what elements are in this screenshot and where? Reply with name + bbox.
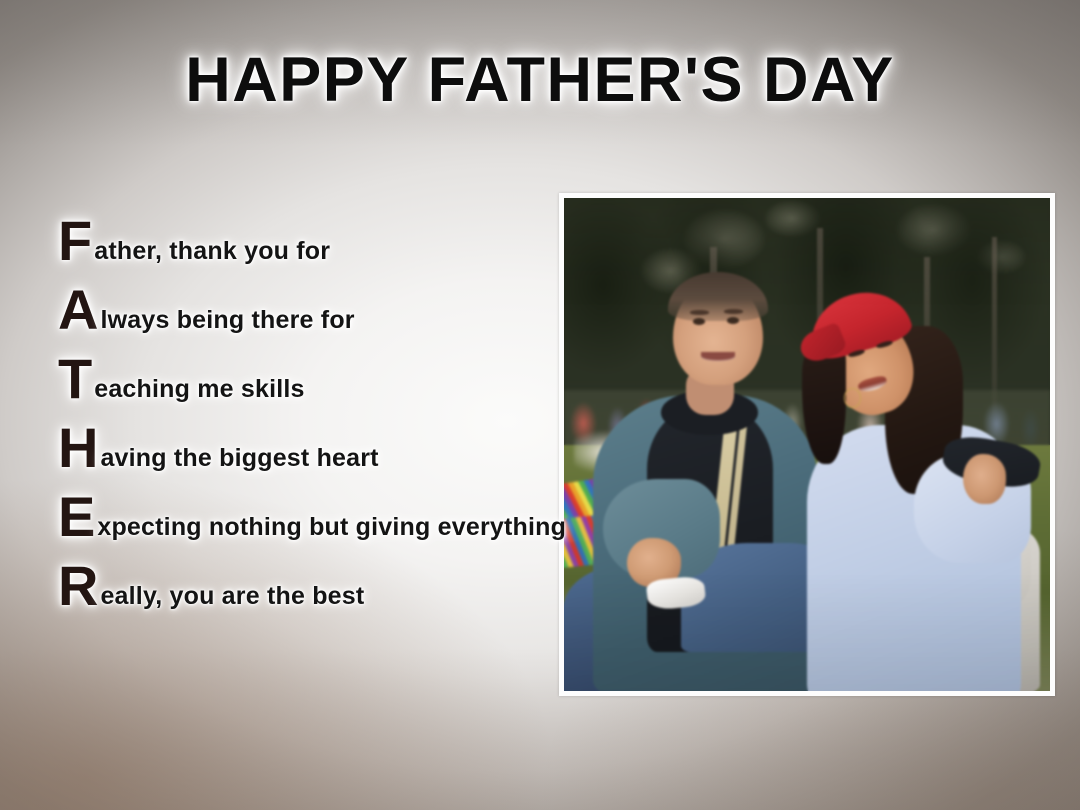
photo-striped-blanket	[564, 507, 673, 569]
photo-father-eye	[693, 318, 706, 325]
poem-dropcap-t: T	[58, 351, 92, 407]
photo-tree-trunk	[817, 228, 823, 415]
poem-line-text: aving the biggest heart	[100, 446, 378, 471]
photo-father-eye	[727, 317, 740, 324]
poem-line-text: eally, you are the best	[100, 584, 364, 609]
poem-line-text: lways being there for	[100, 308, 354, 333]
photo-father-vest-stripe	[704, 415, 737, 612]
photo-sky	[564, 198, 1050, 425]
photo-father-vest-stripe	[722, 420, 748, 602]
fathers-day-slide: HAPPY FATHER'S DAY F ather, thank you fo…	[0, 0, 1080, 810]
poem-line: A lways being there for	[58, 282, 568, 351]
photo-father-neck	[686, 366, 735, 415]
photo-soft-focus-overlay	[564, 198, 1050, 691]
photo-father-jeans	[564, 563, 836, 691]
photo-tree-trunk	[710, 247, 717, 415]
photo-grass	[564, 445, 1050, 692]
photo-daughter-face	[816, 306, 924, 424]
poem-line-text: eaching me skills	[94, 377, 304, 402]
poem-line: F ather, thank you for	[58, 213, 568, 282]
acrostic-poem: F ather, thank you for A lways being the…	[58, 213, 568, 627]
photo-father-face	[673, 282, 763, 386]
poem-line-text: ather, thank you for	[94, 239, 330, 264]
photo-frame	[559, 193, 1055, 696]
photo-father-eyebrow	[690, 310, 709, 314]
photo-daughter-pants	[846, 523, 1040, 691]
photo-ground	[564, 583, 788, 691]
photo-father-hand-on-shoulder	[963, 454, 1007, 503]
photo-daughter-sweatshirt	[807, 425, 1021, 691]
poem-dropcap-a: A	[58, 282, 98, 338]
photo-father-hair	[668, 272, 768, 321]
poem-dropcap-r: R	[58, 558, 98, 614]
poem-dropcap-h: H	[58, 420, 98, 476]
photo-daughter-sleeve	[914, 454, 1031, 562]
poem-dropcap-f: F	[58, 213, 92, 269]
photo-father-knee	[681, 543, 846, 651]
photo-daughter-smile	[857, 374, 888, 393]
photo-daughter-cap-brim	[796, 322, 848, 366]
photo-father-arm-around	[940, 431, 1043, 492]
poem-line: E xpecting nothing but giving everything	[58, 489, 568, 558]
photo-daughter-hair	[885, 326, 963, 494]
photo-daughter-eye	[876, 340, 893, 349]
photo-tree-trunk	[924, 257, 930, 415]
page-title: HAPPY FATHER'S DAY	[0, 44, 1080, 116]
photo-father-eyebrow	[724, 309, 743, 313]
photo-daughter-knee	[924, 494, 1031, 612]
photo-father-jacket	[593, 395, 817, 691]
poem-line-text: xpecting nothing but giving everything	[97, 515, 566, 540]
photo-father-arm	[603, 479, 720, 578]
photo-trees	[564, 198, 1050, 415]
poem-line: R eally, you are the best	[58, 558, 568, 627]
photo-father-vest	[647, 405, 773, 652]
photo-daughter-eye	[847, 349, 864, 358]
poem-line: T eaching me skills	[58, 351, 568, 420]
photo-striped-blanket	[564, 463, 704, 544]
photo-father-collar	[661, 390, 758, 434]
poem-dropcap-e: E	[58, 489, 95, 545]
photo-daughter-hair	[802, 336, 846, 464]
photo-daughter-earring	[844, 388, 861, 408]
photo-picnic-bundle	[574, 430, 720, 474]
photo-daughter-red-cap	[801, 281, 915, 364]
photo-father-hand	[627, 538, 680, 587]
photo-background-crowd	[564, 390, 1050, 464]
photo-father-smile	[701, 352, 735, 361]
photo-tree-trunk	[992, 237, 997, 414]
poem-line: H aving the biggest heart	[58, 420, 568, 489]
photo-tissue	[645, 575, 706, 611]
father-daughter-photo	[564, 198, 1050, 691]
